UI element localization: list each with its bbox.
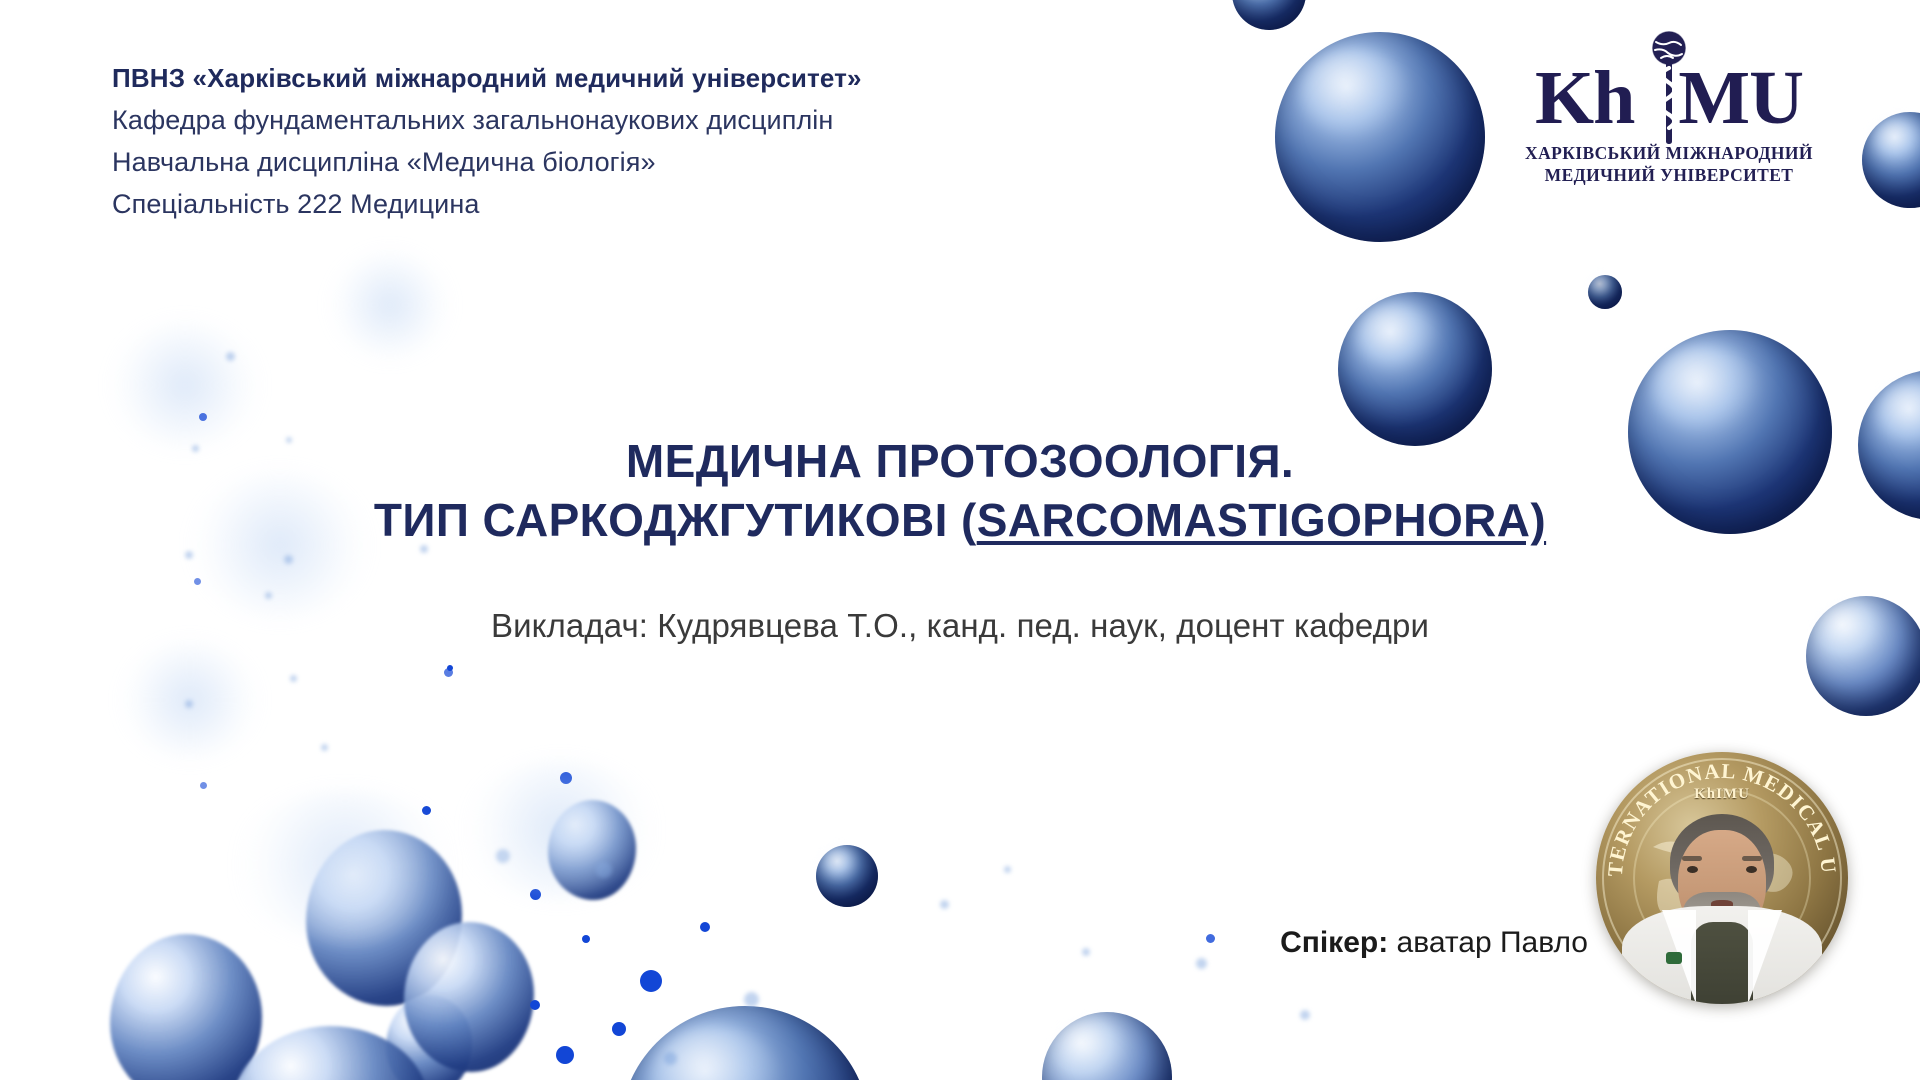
decorative-dot [1300,1010,1310,1020]
decorative-dot [447,665,453,671]
decorative-dot [496,849,510,863]
avatar-brow-left [1682,856,1702,861]
speaker-label: Спікер: [1280,926,1388,959]
logo-wordmark-left: Kh [1535,56,1634,140]
decorative-sphere [1338,292,1492,446]
decorative-mist [120,640,260,760]
decorative-dot [530,889,541,900]
decorative-dot [596,862,612,878]
logo-subname-line2: МЕДИЧНИЙ УНІВЕРСИТЕТ [1504,165,1834,187]
avatar-person-portrait [1622,800,1822,1004]
decorative-dot [194,578,201,585]
decorative-dot [560,772,572,784]
decorative-sphere [1232,0,1306,30]
decorative-sphere [386,995,472,1080]
decorative-dot [1196,958,1207,969]
slide-header-institution: ПВНЗ «Харківський міжнародний медичний у… [112,58,862,225]
decorative-dot [444,668,453,677]
logo-subname: ХАРКІВСЬКИЙ МІЖНАРОДНИЙ МЕДИЧНИЙ УНІВЕРС… [1504,143,1834,187]
avatar-eye-left [1687,866,1698,873]
lecturer-subtitle: Викладач: Кудрявцева Т.О., канд. пед. на… [0,607,1920,645]
decorative-sphere [232,1026,428,1080]
decorative-mist [110,320,260,450]
decorative-dot [664,1052,677,1065]
presentation-title-slide: ПВНЗ «Харківський міжнародний медичний у… [0,0,1920,1080]
title-line-1: МЕДИЧНА ПРОТОЗООЛОГІЯ. [0,432,1920,491]
header-line-department: Кафедра фундаментальних загальнонаукових… [112,99,862,141]
decorative-dot [582,935,590,943]
decorative-dot [321,744,328,751]
caduceus-globe-icon [1639,28,1699,146]
decorative-dot [185,700,193,708]
decorative-dot [640,970,662,992]
speaker-avatar: HARKIV INTERNATIONAL MEDICAL UNIVERSITY … [1596,752,1848,1004]
speaker-name: аватар Павло [1397,926,1588,959]
decorative-sphere [404,922,534,1072]
decorative-dot [530,1000,540,1010]
title-line-2-prefix: ТИП САРКОДЖГУТИКОВІ ( [374,494,977,546]
decorative-mist [460,760,660,900]
decorative-dot [199,413,207,421]
decorative-sphere [1588,275,1622,309]
slide-title: МЕДИЧНА ПРОТОЗООЛОГІЯ. ТИП САРКОДЖГУТИКО… [0,432,1920,550]
decorative-dot [200,782,207,789]
decorative-dot [284,555,293,564]
decorative-sphere [620,1006,870,1080]
decorative-sphere [1275,32,1485,242]
decorative-dot [700,922,710,932]
logo-wordmark: KhMU [1504,62,1834,135]
decorative-dot [185,551,193,559]
decorative-dot [1206,934,1215,943]
decorative-dot [612,1022,626,1036]
speaker-credit: Спікер: аватар Павло [1280,926,1588,960]
decorative-sphere [1042,1012,1172,1080]
title-line-2-latin-name: SARCOMASTIGOPHORA) [977,494,1546,546]
decorative-dot [556,1046,574,1064]
khimu-logo: KhMU ХАРКІВСЬКИЙ МІЖНАРОДНИЙ МЕДИЧНИЙ УН… [1504,62,1834,187]
header-line-discipline: Навчальна дисципліна «Медична біологія» [112,141,862,183]
decorative-sphere [816,845,878,907]
decorative-dot [226,352,235,361]
avatar-lapel-right [1748,910,1782,1004]
avatar-eye-right [1746,866,1757,873]
avatar-shirt [1691,922,1753,1004]
decorative-sphere [1862,112,1920,208]
avatar-brow-right [1742,856,1762,861]
decorative-dot [1082,948,1090,956]
logo-subname-line1: ХАРКІВСЬКИЙ МІЖНАРОДНИЙ [1504,143,1834,165]
header-line-specialty: Спеціальність 222 Медицина [112,183,862,225]
header-line-university: ПВНЗ «Харківський міжнародний медичний у… [112,58,862,99]
decorative-sphere [110,934,262,1080]
title-line-2: ТИП САРКОДЖГУТИКОВІ (SARCOMASTIGOPHORA) [0,491,1920,550]
decorative-dot [940,900,949,909]
decorative-mist [330,250,450,360]
decorative-dot [744,992,759,1007]
decorative-dot [265,592,272,599]
decorative-mist [230,790,460,940]
decorative-dot [422,806,431,815]
decorative-sphere [548,800,636,900]
decorative-dot [1004,866,1011,873]
decorative-dot [290,675,297,682]
decorative-sphere [306,830,462,1006]
avatar-lapel-pin [1666,952,1682,964]
